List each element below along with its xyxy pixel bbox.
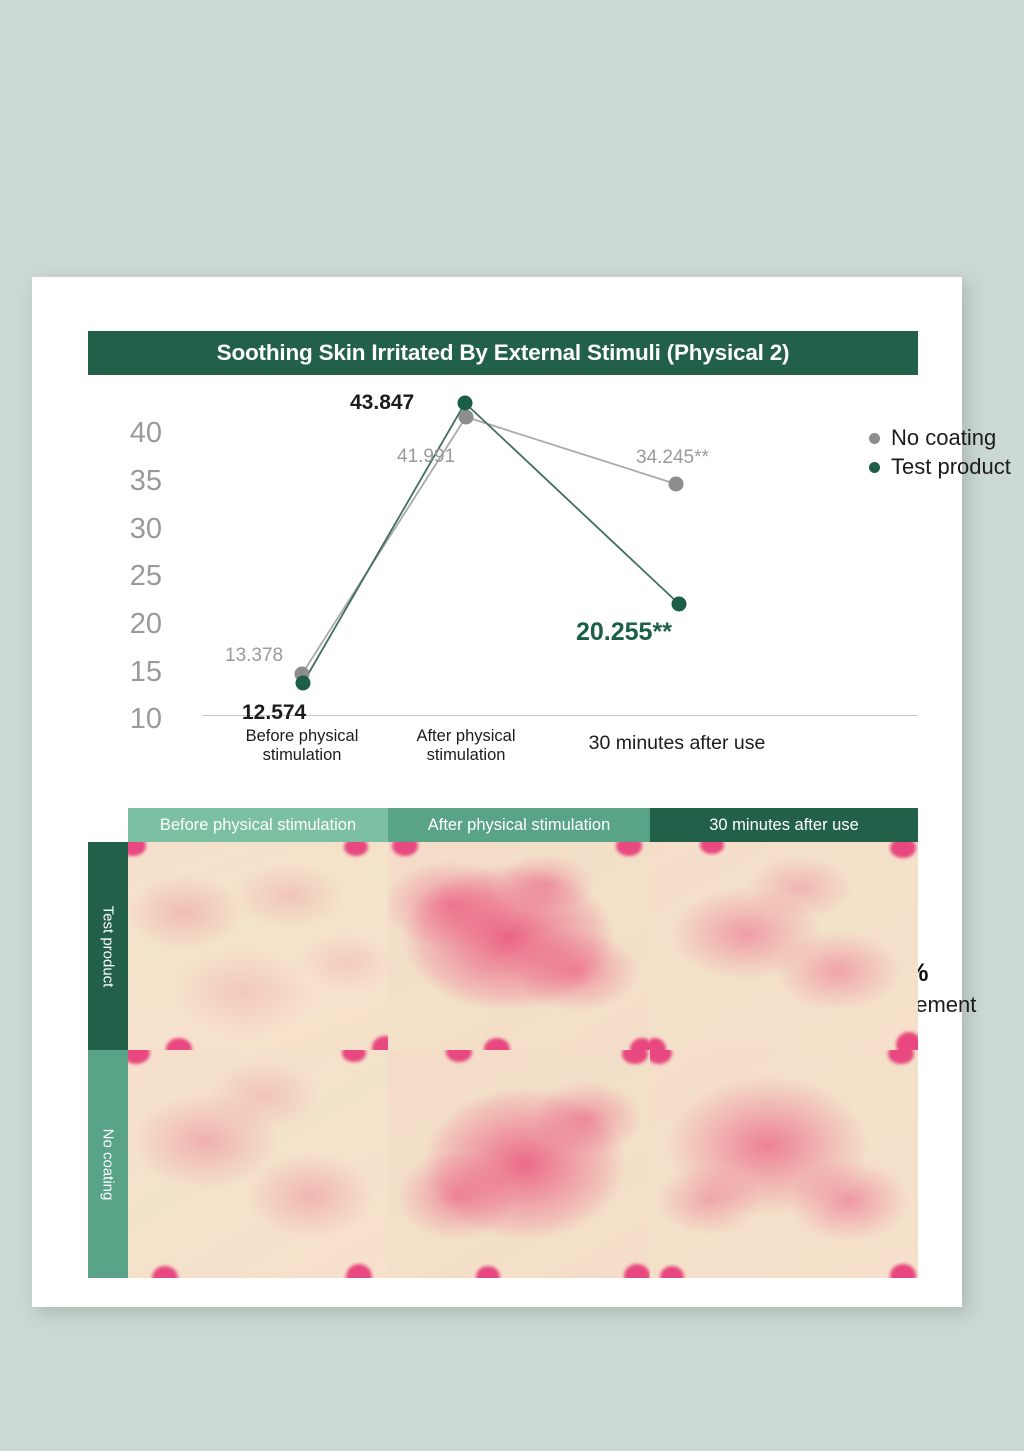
point-no-coating-2 [459, 410, 474, 425]
grid-row-header-test-product-text: Test product [100, 905, 117, 987]
x-label-after: After physical stimulation [391, 727, 541, 766]
chart-title: Soothing Skin Irritated By External Stim… [217, 340, 790, 366]
chart-legend: No coating Test product [869, 424, 1011, 482]
skin-photo [650, 1050, 918, 1278]
y-axis: 40 35 30 25 20 15 10 [102, 382, 162, 797]
skin-photo [388, 1050, 650, 1278]
value-label-no-coating-2: 41.991 [397, 447, 455, 466]
y-tick-40: 40 [106, 419, 162, 448]
legend-item-no-coating[interactable]: No coating [869, 424, 1011, 452]
photo-no-coating-30min [650, 1050, 918, 1278]
photo-no-coating-after [388, 1050, 650, 1278]
value-label-test-product-1: 12.574 [242, 702, 306, 723]
legend-dot-icon-no-coating [869, 433, 880, 444]
line-chart: 40 35 30 25 20 15 10 13.378 [88, 382, 918, 797]
photo-test-product-before [128, 842, 388, 1050]
value-label-no-coating-3: 34.245** [636, 448, 709, 467]
skin-photo [128, 842, 388, 1050]
photo-test-product-after [388, 842, 650, 1050]
point-test-product-3 [672, 597, 687, 612]
screenshot-root: Soothing Skin Irritated By External Stim… [0, 0, 1024, 1451]
y-tick-10: 10 [106, 705, 162, 734]
legend-label-no-coating: No coating [891, 425, 996, 451]
value-label-test-product-3: 20.255** [576, 620, 672, 645]
grid-corner-spacer [88, 808, 128, 842]
skin-photo [650, 842, 918, 1050]
chart-title-bar: Soothing Skin Irritated By External Stim… [88, 331, 918, 375]
grid-row-header-test-product: Test product [88, 842, 128, 1050]
photo-test-product-30min [650, 842, 918, 1050]
plot-area: 13.378 12.574 43.847 41.991 34.245** 20.… [172, 382, 918, 797]
skin-photo [128, 1050, 388, 1278]
y-tick-25: 25 [106, 562, 162, 591]
grid-column-header-before: Before physical stimulation [128, 808, 388, 842]
x-label-30min: 30 minutes after use [587, 732, 767, 755]
point-test-product-1 [296, 676, 311, 691]
x-label-30min-text: 30 minutes after use [587, 732, 767, 755]
grid-column-header-before-text: Before physical stimulation [160, 816, 356, 835]
x-label-before-text: Before physical stimulation [227, 727, 377, 766]
y-tick-20: 20 [106, 610, 162, 639]
grid-column-header-30min-text: 30 minutes after use [709, 816, 859, 835]
grid-column-header-30min: 30 minutes after use [650, 808, 918, 842]
grid-row-header-no-coating-text: No coating [100, 1128, 117, 1200]
grid-column-header-after: After physical stimulation [388, 808, 650, 842]
photo-comparison-grid: Before physical stimulation After physic… [88, 808, 918, 1278]
value-label-no-coating-1: 13.378 [225, 646, 283, 665]
point-test-product-2 [458, 396, 473, 411]
grid-column-header-after-text: After physical stimulation [428, 816, 611, 835]
value-label-test-product-2: 43.847 [350, 392, 414, 413]
y-tick-30: 30 [106, 515, 162, 544]
legend-item-test-product[interactable]: Test product [869, 453, 1011, 481]
point-no-coating-3 [669, 477, 684, 492]
legend-dot-icon-test-product [869, 462, 880, 473]
grid-row-header-no-coating: No coating [88, 1050, 128, 1278]
skin-photo [388, 842, 650, 1050]
y-tick-15: 15 [106, 658, 162, 687]
legend-label-test-product: Test product [891, 454, 1011, 480]
y-tick-35: 35 [106, 467, 162, 496]
x-label-after-text: After physical stimulation [391, 727, 541, 766]
photo-no-coating-before [128, 1050, 388, 1278]
x-label-before: Before physical stimulation [227, 727, 377, 766]
